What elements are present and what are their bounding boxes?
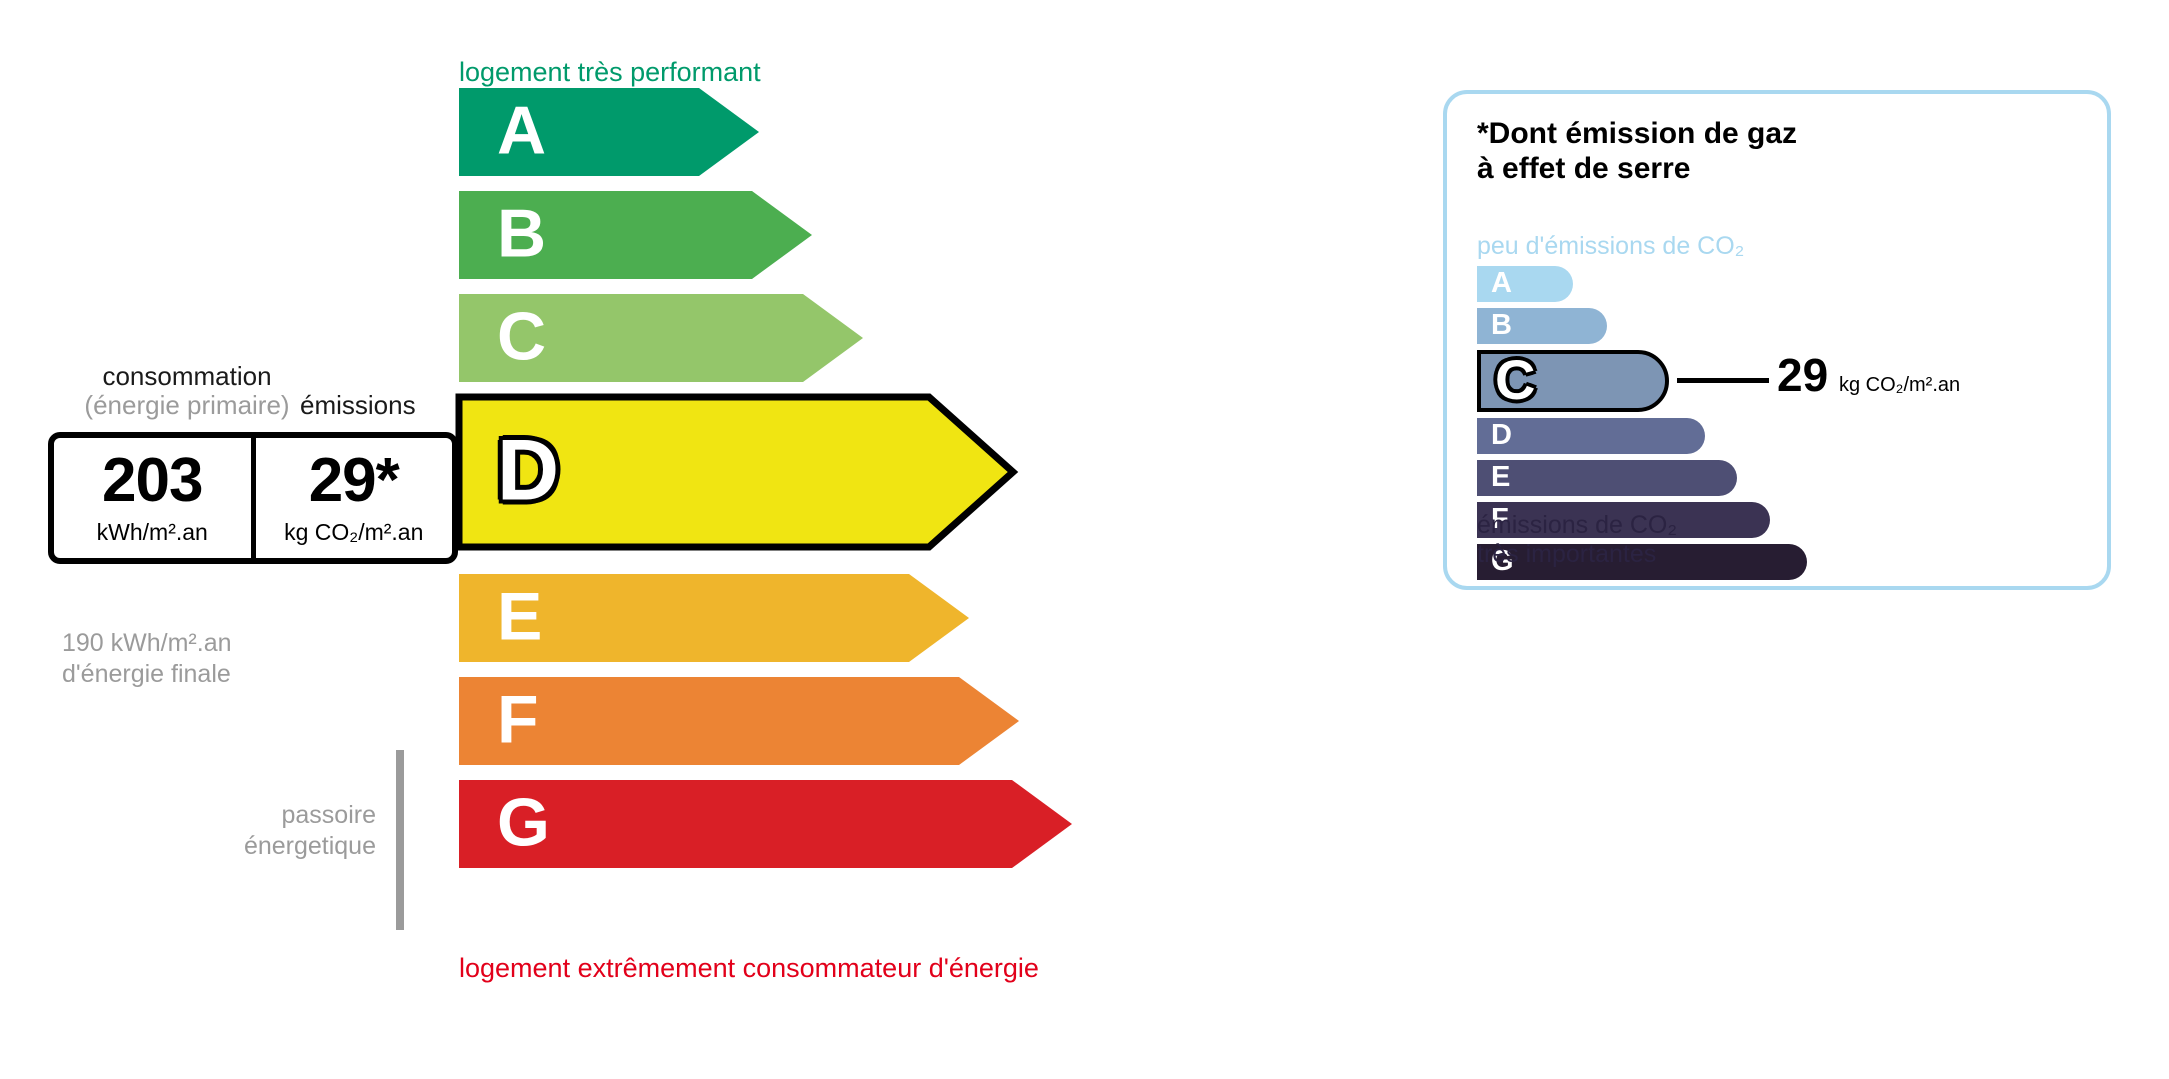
consumption-label: consommation (énergie primaire) xyxy=(62,362,312,420)
consumption-value-cell: 203 kWh/m².an xyxy=(54,438,256,558)
energy-class-arrow-d: D xyxy=(459,397,1021,547)
energy-class-letter-g: G xyxy=(497,789,550,857)
co2-bottom-line2: très importantes xyxy=(1477,540,1677,569)
arrow-shape-g xyxy=(459,780,1082,878)
co2-class-letter-d: D xyxy=(1491,421,1512,450)
co2-top-caption: peu d'émissions de CO₂ xyxy=(1477,232,1744,261)
energy-scale-section: logement très performant ABCDEFG logemen… xyxy=(0,0,1400,1079)
co2-class-row-a: A xyxy=(1477,266,2077,302)
energy-class-letter-c: C xyxy=(497,303,546,371)
co2-class-letter-c: C xyxy=(1495,352,1535,408)
emissions-label: émissions xyxy=(300,390,416,421)
energy-class-arrow-f: F xyxy=(459,677,1027,765)
final-energy-line2: d'énergie finale xyxy=(62,659,232,690)
co2-class-row-e: E xyxy=(1477,460,2077,496)
energy-scale-bottom-caption: logement extrêmement consommateur d'éner… xyxy=(459,953,1039,984)
passoire-line2: énergetique xyxy=(176,831,376,862)
energy-class-letter-d: D xyxy=(497,427,559,513)
co2-title-line1: *Dont émission de gaz xyxy=(1477,116,1797,151)
co2-callout-unit: kg CO₂/m².an xyxy=(1839,374,1960,397)
passoire-label: passoire énergetique xyxy=(176,800,376,861)
co2-bottom-line1: émissions de CO₂ xyxy=(1477,511,1677,540)
arrow-shape-f xyxy=(459,677,1029,775)
energy-class-arrow-e: E xyxy=(459,574,977,662)
co2-class-row-c: C29kg CO₂/m².an xyxy=(1477,350,2077,412)
final-energy-note: 190 kWh/m².an d'énergie finale xyxy=(62,628,232,689)
energy-class-arrow-g: G xyxy=(459,780,1080,868)
consumption-label-line1: consommation xyxy=(102,361,271,391)
energy-scale-top-caption: logement très performant xyxy=(459,57,761,88)
co2-class-row-d: D xyxy=(1477,418,2077,454)
energy-class-letter-b: B xyxy=(497,200,546,268)
co2-title-line2: à effet de serre xyxy=(1477,151,1797,186)
co2-bottom-caption: émissions de CO₂ très importantes xyxy=(1477,511,1677,570)
energy-class-arrow-b: B xyxy=(459,191,820,279)
passoire-line1: passoire xyxy=(176,800,376,831)
co2-bar-e xyxy=(1477,460,1737,496)
passoire-bracket xyxy=(396,750,404,930)
energy-class-arrow-c: C xyxy=(459,294,871,382)
co2-panel-title: *Dont émission de gaz à effet de serre xyxy=(1477,116,1797,186)
co2-class-letter-b: B xyxy=(1491,311,1512,340)
energy-class-letter-e: E xyxy=(497,583,542,651)
consumption-label-line2: (énergie primaire) xyxy=(62,391,312,420)
co2-panel: *Dont émission de gaz à effet de serre p… xyxy=(1443,90,2111,590)
co2-class-letter-a: A xyxy=(1491,269,1512,298)
consumption-unit: kWh/m².an xyxy=(97,519,208,546)
emissions-value-cell: 29* kg CO₂/m².an xyxy=(256,438,453,558)
co2-callout-value: 29 xyxy=(1777,352,1828,398)
final-energy-line1: 190 kWh/m².an xyxy=(62,628,232,659)
energy-class-arrow-a: A xyxy=(459,88,767,176)
emissions-unit: kg CO₂/m².an xyxy=(284,519,423,546)
energy-class-letter-f: F xyxy=(497,686,539,754)
co2-callout-leader-line xyxy=(1677,378,1769,383)
dpe-label: logement très performant ABCDEFG logemen… xyxy=(0,0,2169,1079)
value-box: 203 kWh/m².an 29* kg CO₂/m².an xyxy=(48,432,458,564)
consumption-value: 203 xyxy=(102,450,202,512)
energy-class-letter-a: A xyxy=(497,97,546,165)
emissions-value: 29* xyxy=(309,450,399,512)
co2-class-row-b: B xyxy=(1477,308,2077,344)
co2-class-letter-e: E xyxy=(1491,463,1510,492)
